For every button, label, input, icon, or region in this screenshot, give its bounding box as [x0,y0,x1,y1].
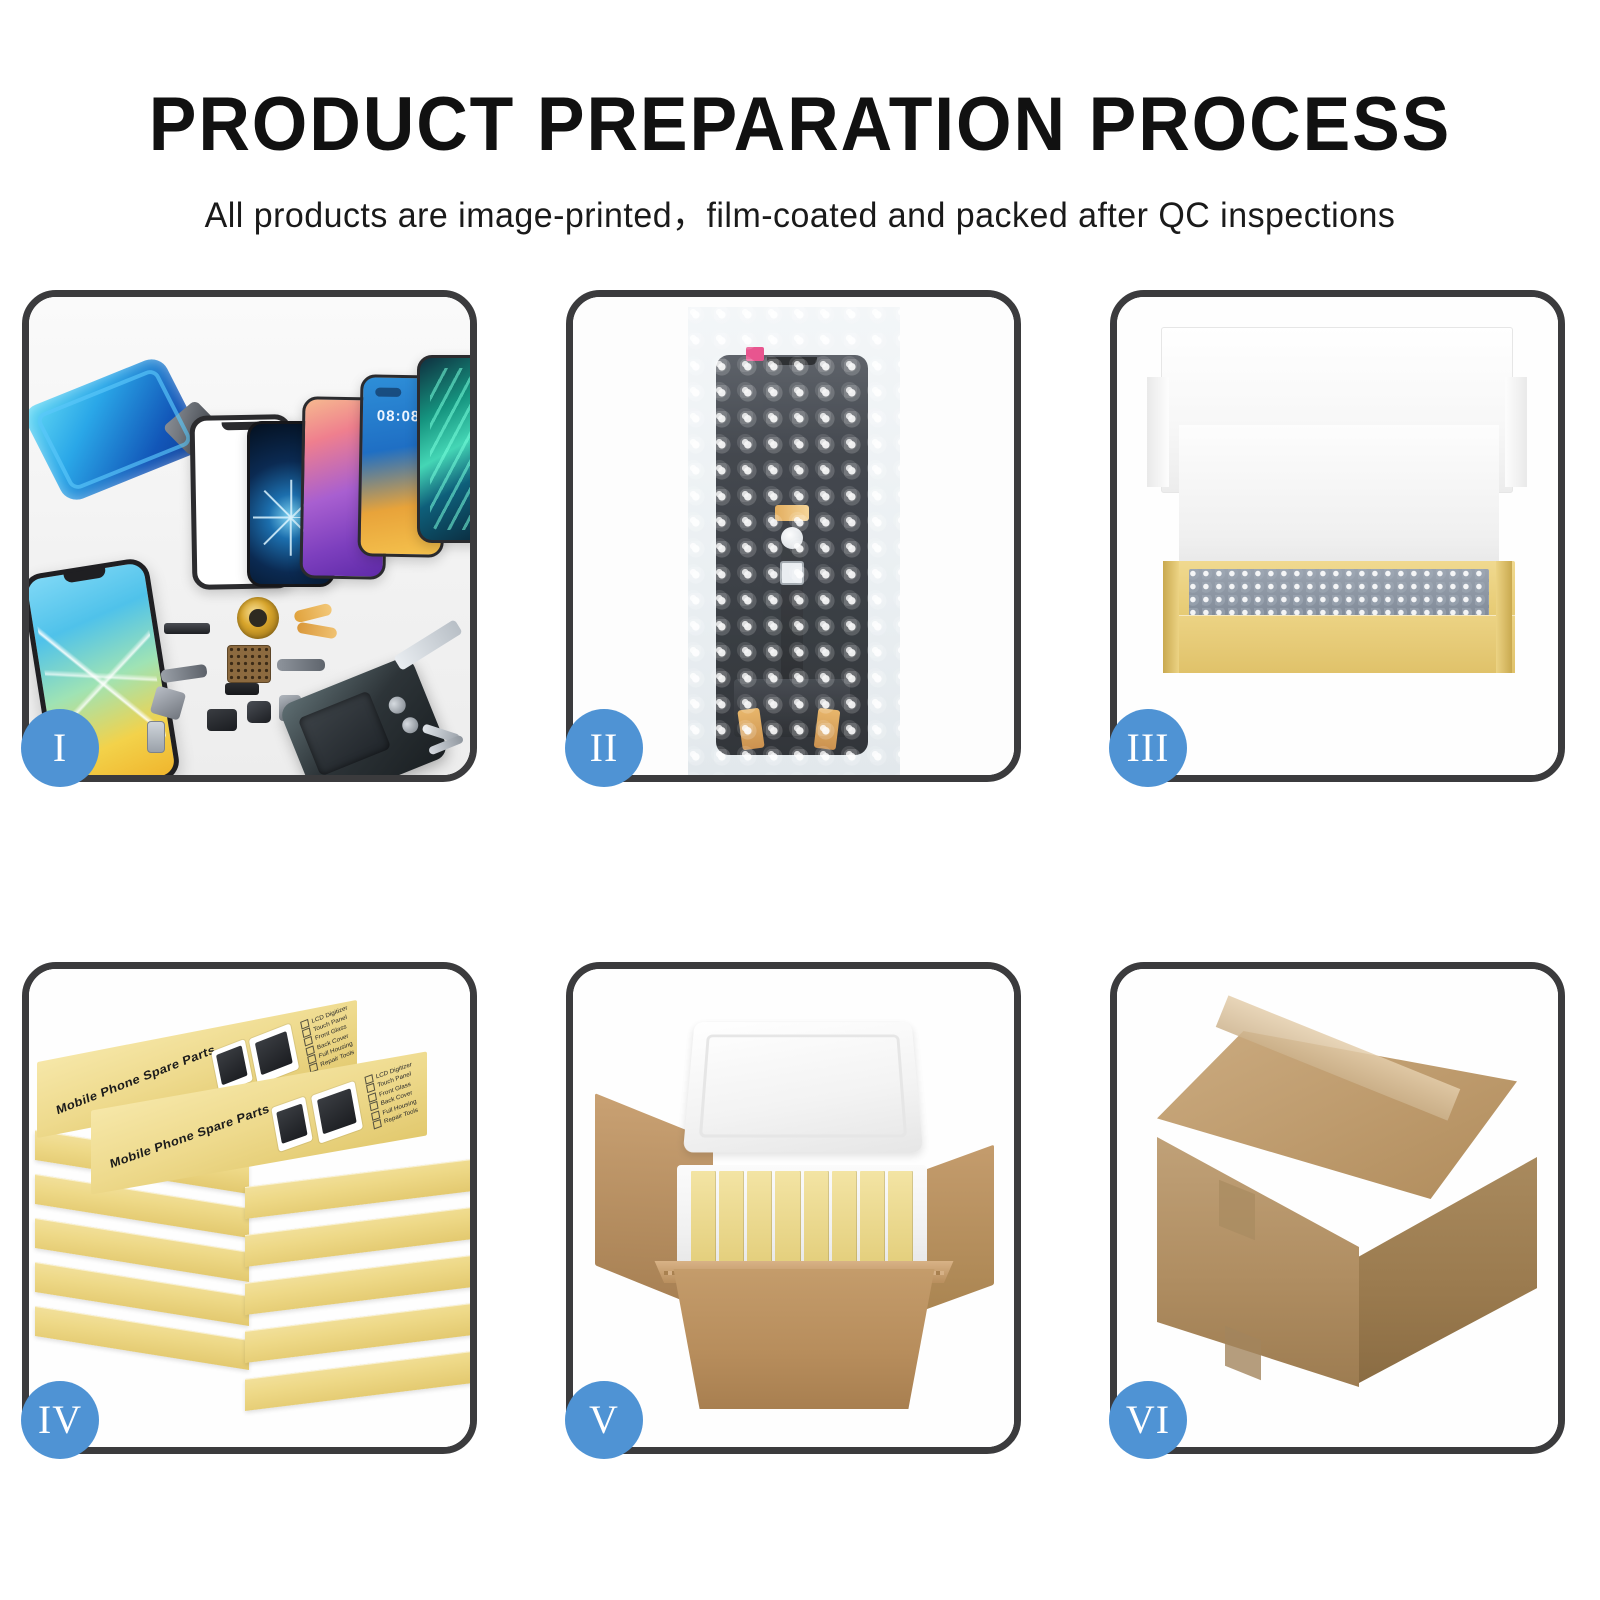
step-4-image: Mobile Phone Spare Parts LCD Digitizer T… [29,969,470,1447]
inner-box [719,1171,744,1267]
retail-box [245,1159,470,1219]
process-step-6[interactable]: VI [1110,962,1565,1454]
teal-display-screen [417,355,470,543]
camera-lens-icon-2 [400,715,421,736]
gold-box-front-wall [1163,615,1515,673]
notch-icon [63,567,106,583]
step-5-image [573,969,1014,1447]
step-1-image: 08:08 [29,297,470,775]
inner-retail-boxes [691,1171,913,1267]
step-2-image [573,297,1014,775]
retail-box [245,1303,470,1363]
wireless-charging-coil-part [237,597,279,639]
retail-box [245,1255,470,1315]
retail-box-phone-image [271,1096,312,1152]
process-step-4[interactable]: Mobile Phone Spare Parts LCD Digitizer T… [22,962,477,1454]
foam-sheet [1179,425,1499,583]
speaker-module-part [207,709,237,731]
step-3-image [1117,297,1558,775]
process-step-1[interactable]: 08:08 I [22,290,477,782]
inner-box [832,1171,857,1267]
capacitor-part [225,683,259,695]
retail-box-checklist: LCD Digitizer Touch Panel Front Glass Ba… [300,1004,357,1074]
inner-box [775,1171,800,1267]
process-step-5[interactable]: V [566,962,1021,1454]
retail-box-lcd-image [311,1081,363,1144]
step-badge-5: V [565,1381,643,1459]
retail-box-checklist: LCD Digitizer Touch Panel Front Glass Ba… [364,1060,421,1131]
gold-box-left-wall [1163,561,1179,673]
step-6-image [1117,969,1558,1447]
retail-box-stack: Mobile Phone Spare Parts LCD Digitizer T… [29,969,470,1447]
retail-box [245,1351,470,1411]
step-badge-3: III [1109,709,1187,787]
inner-box [888,1171,913,1267]
camera-lens-icon-1 [386,694,408,716]
crack-lines-icon [291,517,292,518]
process-step-3[interactable]: III [1110,290,1565,782]
flex-cable-part-c [277,659,325,671]
inner-box [747,1171,772,1267]
step-badge-1: I [21,709,99,787]
process-step-2[interactable]: II [566,290,1021,782]
retail-box [245,1207,470,1267]
bubble-wrap-sleeve [688,307,900,775]
camera-module-part [247,701,271,723]
gold-box-right-wall [1496,561,1512,673]
retail-box-brand-label: Mobile Phone Spare Parts [109,1102,270,1171]
foam-lid [683,1022,923,1152]
inner-box [804,1171,829,1267]
earpiece-mesh-part [164,623,210,634]
bubble-texture [688,307,900,775]
ic-chip-part [227,645,271,683]
step-badge-6: VI [1109,1381,1187,1459]
screen-clock: 08:08 [377,408,421,426]
punch-hole-camera-icon [375,388,401,397]
step-badge-2: II [565,709,643,787]
sim-tray-part [147,721,165,753]
inner-box [860,1171,885,1267]
inner-box [691,1171,716,1267]
process-step-grid: 08:08 I [0,0,1600,1600]
step-badge-4: IV [21,1381,99,1459]
carton-body [659,1269,949,1409]
